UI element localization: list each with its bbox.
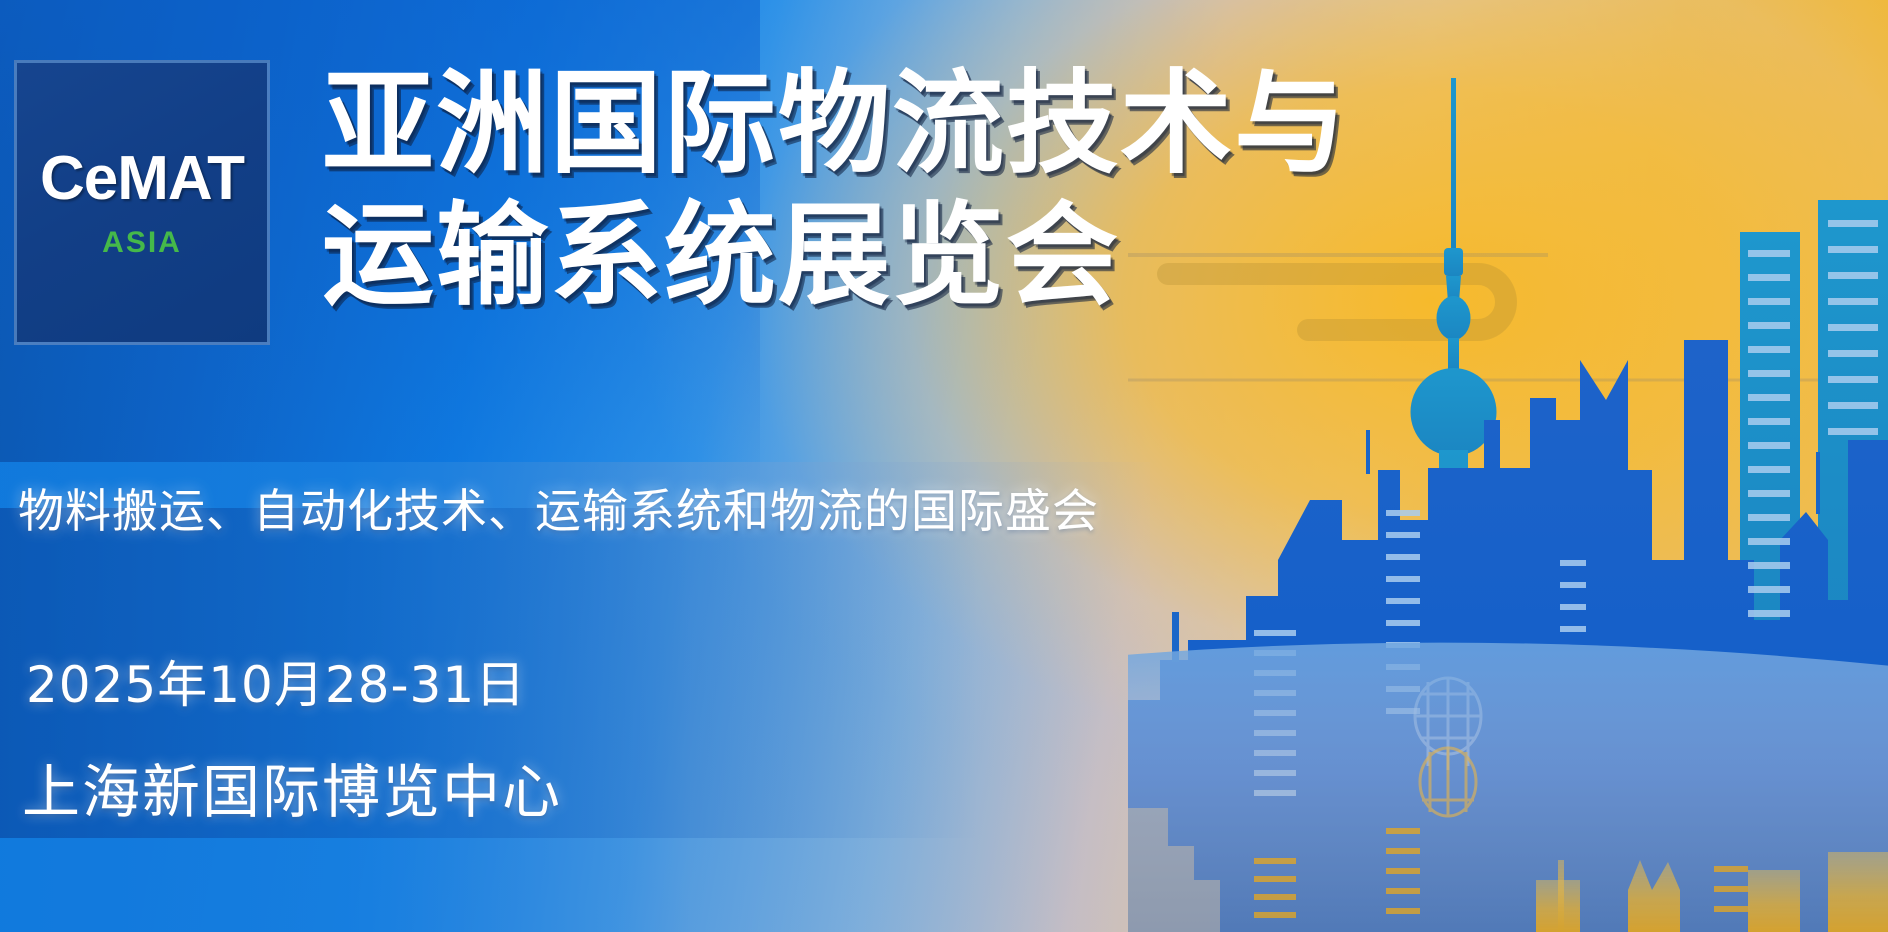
- logo-brand-text: CeMAT: [40, 148, 244, 210]
- event-date: 2025年10月28-31日: [26, 645, 526, 717]
- water-reflection: [1128, 643, 1888, 932]
- logo-region-text: ASIA: [102, 228, 182, 258]
- subtitle: 物料搬运、自动化技术、运输系统和物流的国际盛会: [18, 475, 1099, 541]
- cemat-logo: CeMAT ASIA: [14, 60, 270, 345]
- headline: 亚洲国际物流技术与 运输系统展览会: [322, 58, 1382, 322]
- cemat-asia-banner: CeMAT ASIA 亚洲国际物流技术与 运输系统展览会 物料搬运、自动化技术、…: [0, 0, 1888, 932]
- headline-line-1: 亚洲国际物流技术与: [322, 58, 1382, 190]
- headline-line-2: 运输系统展览会: [322, 190, 1382, 322]
- event-venue: 上海新国际博览中心: [22, 745, 562, 829]
